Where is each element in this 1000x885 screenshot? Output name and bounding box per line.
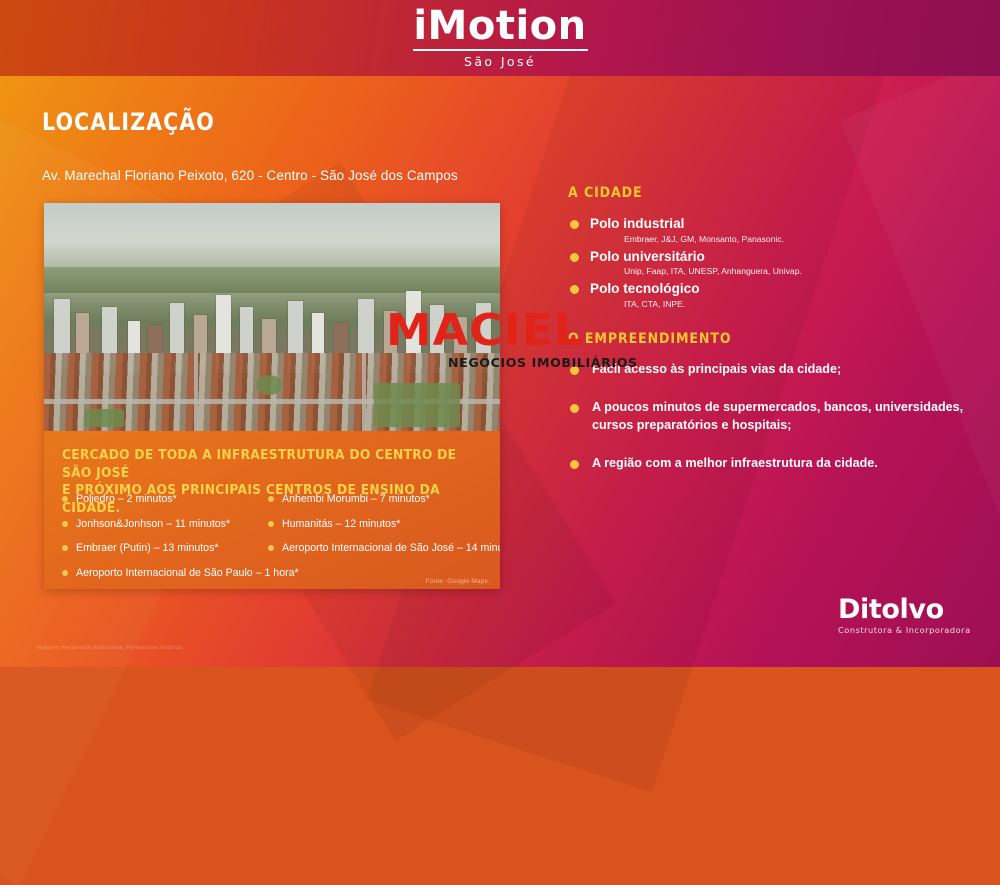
city-item-title: Polo industrial [590, 215, 968, 233]
city-item-title: Polo universitário [590, 248, 968, 266]
city-item-detail: ITA, CTA, INPE. [624, 299, 968, 309]
project-item-text: A região com a melhor infraestrutura da … [592, 455, 968, 473]
photo-caption-line1: CERCADO DE TODA A INFRAESTRUTURA DO CENT… [62, 447, 456, 482]
distance-item: Jonhson&Jonhson – 11 minutos* [62, 518, 278, 530]
project-list-item: A região com a melhor infraestrutura da … [568, 455, 968, 473]
distance-item: Poliedro – 2 minutos* [62, 493, 278, 505]
aerial-city-photo [44, 203, 500, 431]
city-item-title: Polo tecnológico [590, 280, 968, 298]
photo-caption-panel: CERCADO DE TODA A INFRAESTRUTURA DO CENT… [44, 431, 500, 589]
project-list-item: Fácil acesso às principais vias da cidad… [568, 361, 968, 379]
distance-item: Anhembi Morumbi – 7 minutos* [268, 493, 498, 505]
photo-source-credit: Fonte: Google Maps. [426, 578, 491, 585]
distance-item: Aeroporto Internacional de São Paulo – 1… [62, 567, 278, 579]
distance-item: Embraer (Putin) – 13 minutos* [62, 542, 278, 554]
distance-item: Humanitás – 12 minutos* [268, 518, 498, 530]
city-item-detail: Unip, Faap, ITA, UNESP, Anhanguera, Univ… [624, 266, 968, 276]
distance-column-right: Anhembi Morumbi – 7 minutos* Humanitás –… [268, 493, 498, 567]
city-item-detail: Embraer, J&J, GM, Monsanto, Panasonic. [624, 234, 968, 244]
city-section-heading: A CIDADE [568, 185, 928, 201]
right-content-column: A CIDADE Polo industrial Embraer, J&J, G… [568, 185, 968, 493]
developer-logo: Ditolvo Construtora & Incorporadora [838, 596, 971, 635]
slide-background: iMotion São José LOCALIZAÇÃO Av. Marecha… [0, 0, 1000, 667]
developer-tagline: Construtora & Incorporadora [838, 625, 971, 635]
developer-name: Ditolvo [838, 596, 971, 623]
brand-logo-subtitle: São José [0, 54, 1000, 69]
legal-disclaimer: Imagens meramente ilustrativas. Perspect… [36, 645, 184, 651]
project-list-item: A poucos minutos de supermercados, banco… [568, 399, 968, 435]
city-list-item: Polo universitário Unip, Faap, ITA, UNES… [568, 248, 968, 277]
address-text: Av. Marechal Floriano Peixoto, 620 - Cen… [42, 168, 458, 183]
distance-column-left: Poliedro – 2 minutos* Jonhson&Jonhson – … [62, 493, 278, 589]
header-bar: iMotion São José [0, 0, 1000, 76]
project-item-text: A poucos minutos de supermercados, banco… [592, 399, 968, 435]
city-list-item: Polo tecnológico ITA, CTA, INPE. [568, 280, 968, 309]
page-title: LOCALIZAÇÃO [42, 108, 215, 136]
project-item-text: Fácil acesso às principais vias da cidad… [592, 361, 968, 379]
brand-logo-text: iMotion [413, 6, 586, 46]
brand-logo-underline [413, 49, 588, 51]
distance-item: Aeroporto Internacional de São José – 14… [268, 542, 498, 554]
project-section: O EMPREENDIMENTO Fácil acesso às princip… [568, 331, 968, 473]
location-photo-card: CERCADO DE TODA A INFRAESTRUTURA DO CENT… [44, 203, 500, 589]
city-list-item: Polo industrial Embraer, J&J, GM, Monsan… [568, 215, 968, 244]
brand-logo: iMotion São José [0, 6, 1000, 69]
project-section-heading: O EMPREENDIMENTO [568, 331, 928, 347]
